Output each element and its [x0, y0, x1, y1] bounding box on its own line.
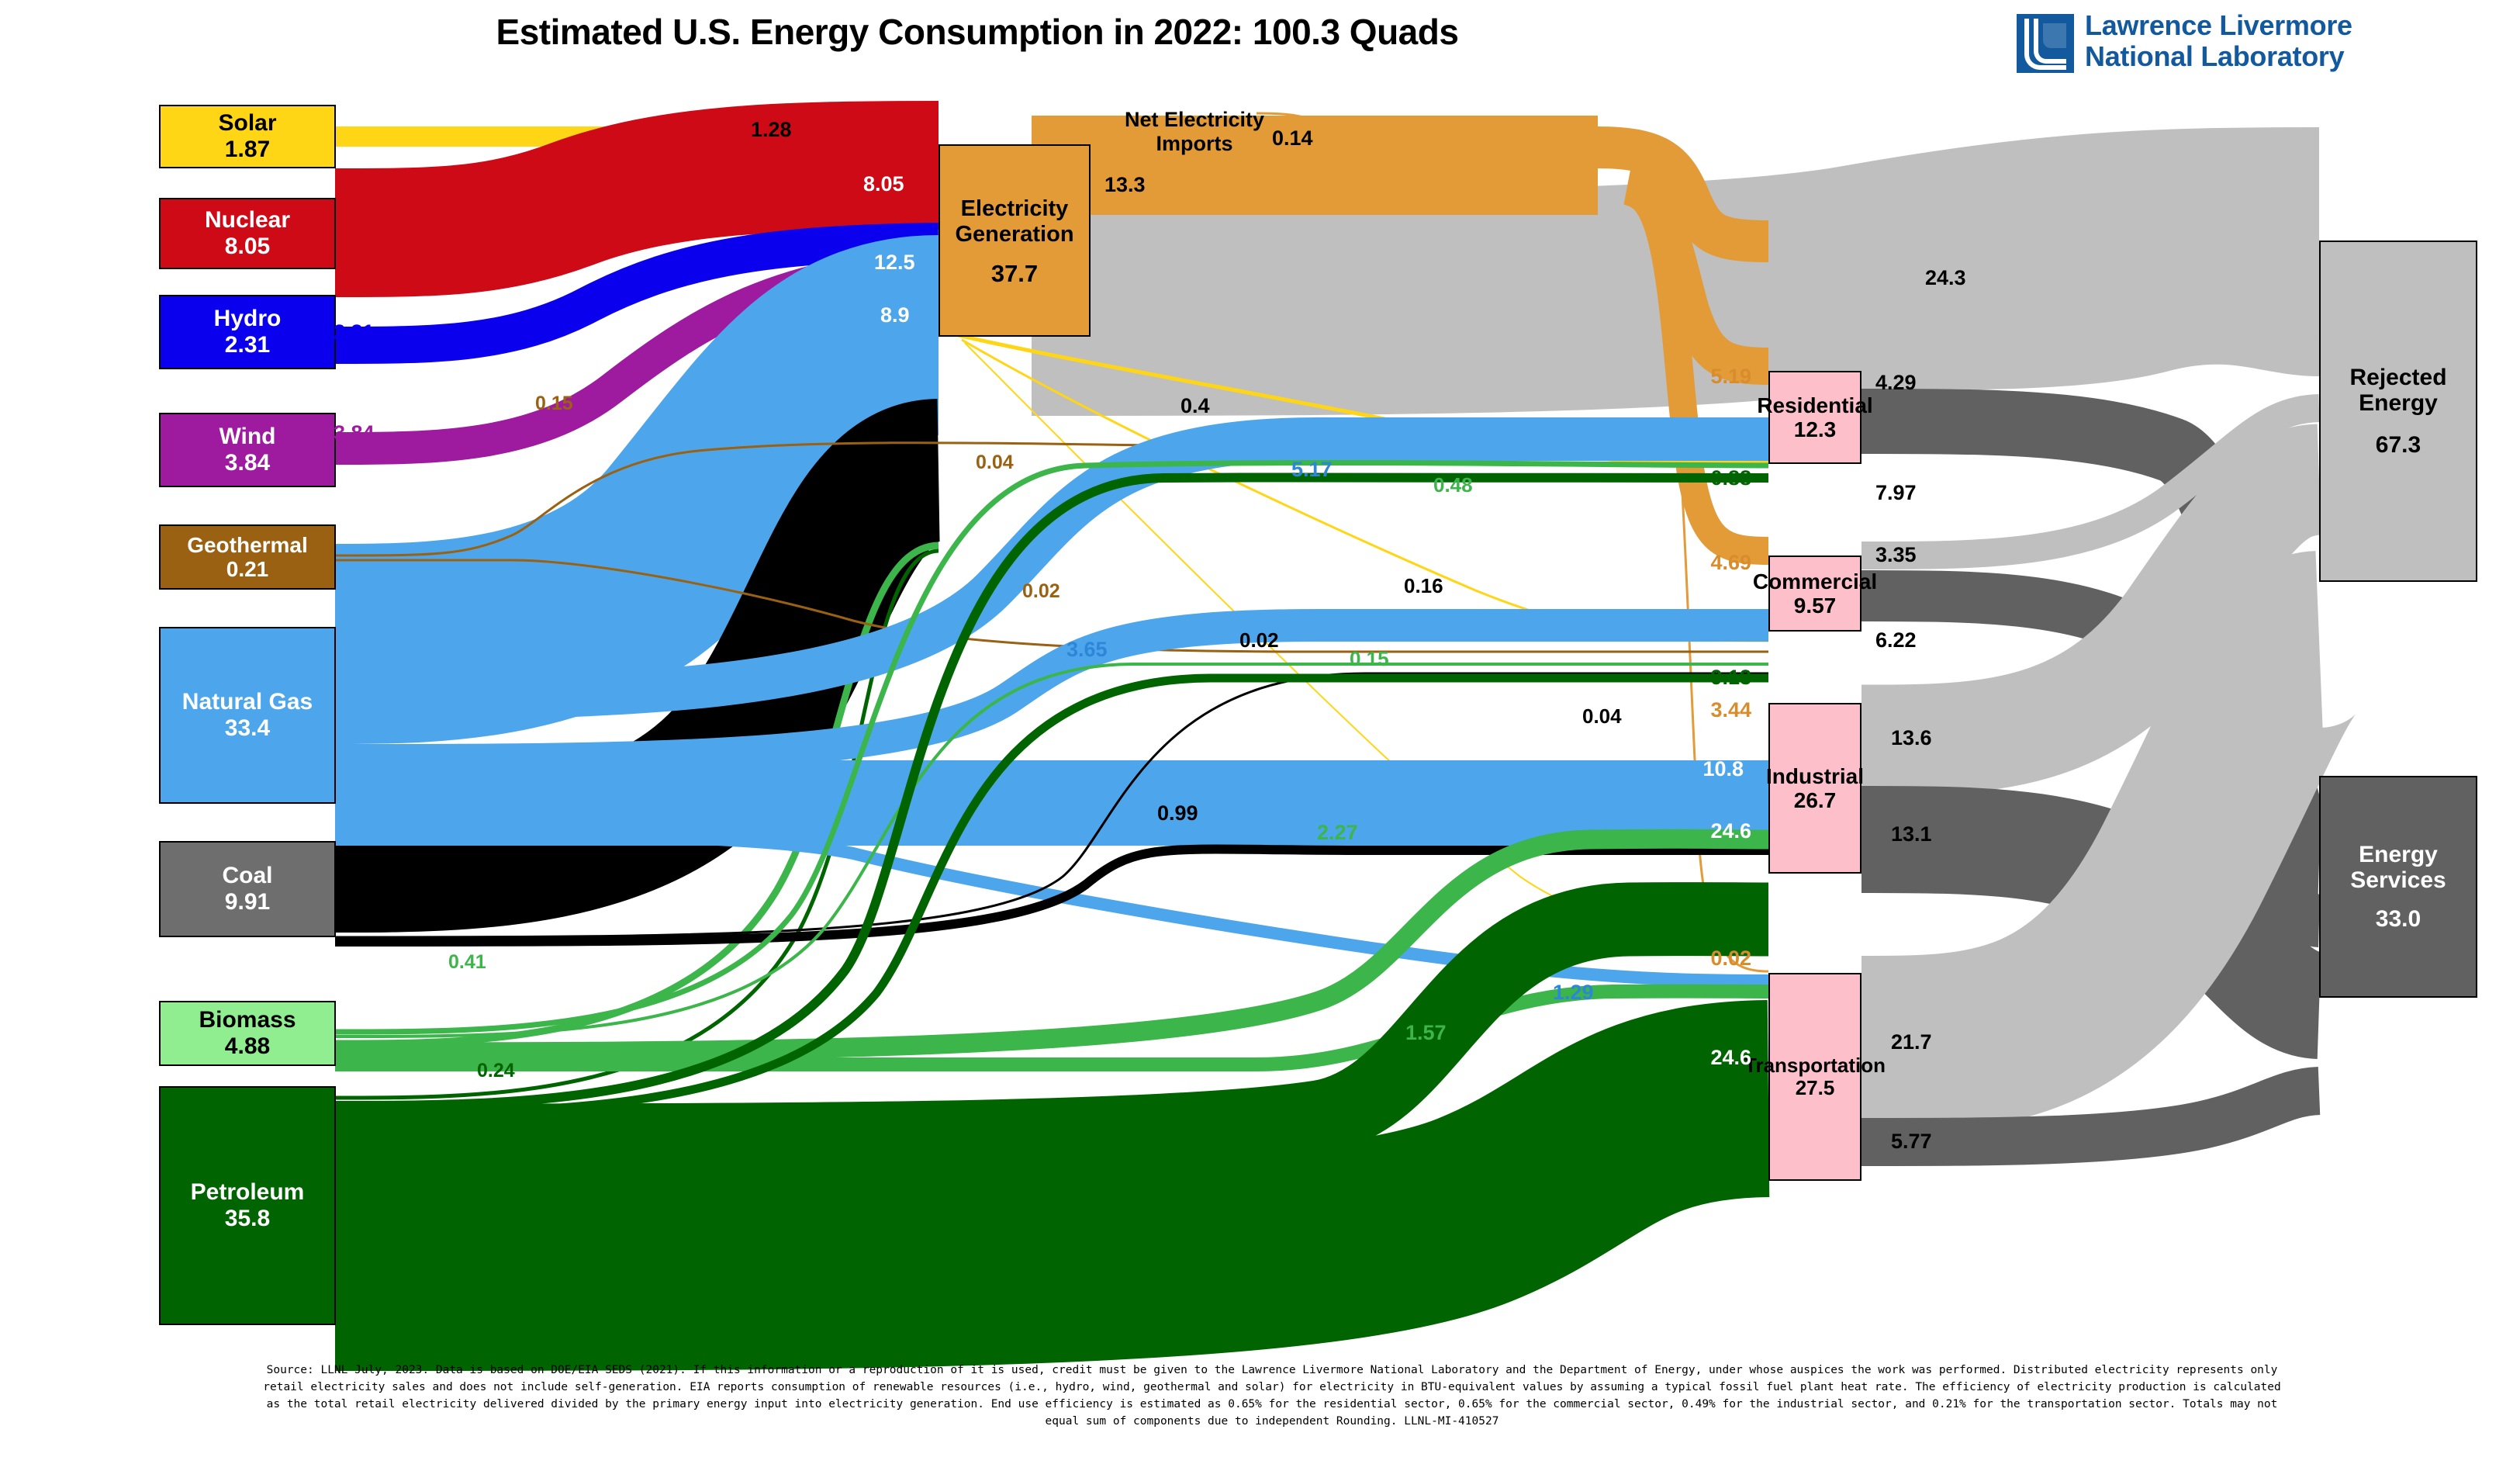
- node-electricity-generation-value: 37.7: [991, 261, 1038, 288]
- net-electricity-imports-label: Net Electricity Imports: [1094, 84, 1295, 156]
- flow-label-transportation-rejected: 21.7: [1891, 1032, 1932, 1053]
- node-wind-value: 3.84: [225, 450, 270, 476]
- flow-label-residential-rejected: 4.29: [1875, 372, 1917, 393]
- flow-label-residential-services: 7.97: [1875, 483, 1917, 504]
- node-coal-label: Coal: [222, 863, 272, 889]
- node-biomass-label: Biomass: [199, 1007, 296, 1033]
- node-residential-value: 12.3: [1794, 417, 1837, 441]
- node-energy-services[interactable]: EnergyServices 33.0: [2319, 776, 2477, 998]
- flow-label-natural-gas-commercial: 3.65: [1066, 639, 1108, 660]
- flow-label-electricity-residential: 5.19: [1710, 366, 1751, 387]
- node-transportation[interactable]: Transportation 27.5: [1768, 973, 1861, 1181]
- node-industrial-label: Industrial: [1766, 764, 1864, 788]
- flow-label-geothermal-commercial: 0.02: [1022, 582, 1060, 601]
- sankey-flow-layer: [0, 0, 2520, 1464]
- node-coal[interactable]: Coal 9.91: [159, 841, 336, 937]
- node-natural-gas-label: Natural Gas: [182, 689, 313, 715]
- node-rejected-energy[interactable]: RejectedEnergy 67.3: [2319, 241, 2477, 582]
- flow-label-solar-commercial: 0.16: [1404, 576, 1443, 596]
- node-wind[interactable]: Wind 3.84: [159, 413, 336, 487]
- node-transportation-value: 27.5: [1796, 1077, 1835, 1099]
- node-nuclear[interactable]: Nuclear 8.05: [159, 198, 336, 269]
- node-residential-label: Residential: [1757, 393, 1872, 417]
- flow-label-coal-electricity: 8.9: [880, 305, 910, 326]
- flow-label-petroleum-electricity: 0.24: [477, 1061, 515, 1081]
- sankey-diagram-canvas: Estimated U.S. Energy Consumption in 202…: [0, 0, 2520, 1464]
- node-transportation-label: Transportation: [1744, 1054, 1886, 1077]
- node-nuclear-label: Nuclear: [205, 207, 290, 234]
- flow-label-commercial-rejected: 3.35: [1875, 545, 1917, 566]
- flow-label-biomass-electricity: 0.41: [448, 953, 486, 972]
- node-geothermal[interactable]: Geothermal 0.21: [159, 524, 336, 590]
- node-energy-services-label: EnergyServices: [2350, 842, 2446, 894]
- node-solar[interactable]: Solar 1.87: [159, 105, 336, 168]
- node-industrial[interactable]: Industrial 26.7: [1768, 703, 1861, 874]
- node-biomass[interactable]: Biomass 4.88: [159, 1001, 336, 1066]
- node-commercial[interactable]: Commercial 9.57: [1768, 555, 1861, 632]
- flow-label-nuclear-electricity: 8.05: [863, 174, 904, 195]
- node-wind-label: Wind: [219, 424, 275, 450]
- node-natural-gas[interactable]: Natural Gas 33.4: [159, 627, 336, 804]
- node-natural-gas-value: 33.4: [225, 715, 270, 742]
- flow-label-petroleum-industrial: 24.6: [1710, 821, 1751, 842]
- node-electricity-generation[interactable]: ElectricityGeneration 37.7: [939, 144, 1091, 337]
- flow-label-solar-residential: 0.4: [1180, 396, 1210, 417]
- flow-label-hydro-electricity: 2.31: [334, 322, 375, 343]
- flow-label-coal-commercial: 0.02: [1239, 630, 1279, 650]
- node-rejected-energy-label: RejectedEnergy: [2349, 365, 2446, 417]
- flow-label-electricity-rejected: 24.3: [1925, 268, 1966, 289]
- flow-label-geothermal-residential: 0.04: [976, 453, 1014, 472]
- flow-label-natural-gas-electricity: 12.5: [874, 252, 915, 273]
- flow-label-coal-industrial: 0.99: [1157, 803, 1198, 824]
- flow-label-petroleum-commercial: 9.13: [1710, 667, 1751, 688]
- node-electricity-generation-label: ElectricityGeneration: [955, 196, 1073, 247]
- flow-label-industrial-services: 13.1: [1891, 824, 1932, 845]
- flow-label-solar-electricity: 1.28: [751, 119, 792, 140]
- flow-label-biomass-commercial: 0.15: [1350, 649, 1389, 669]
- flow-label-net-imports: 0.14: [1272, 128, 1313, 149]
- node-solar-value: 1.87: [225, 137, 270, 163]
- node-energy-services-value: 33.0: [2376, 906, 2421, 933]
- node-hydro-label: Hydro: [214, 306, 282, 332]
- flow-label-biomass-industrial: 2.27: [1317, 822, 1358, 843]
- flow-label-wind-electricity: 3.84: [334, 423, 375, 444]
- node-coal-value: 9.91: [225, 889, 270, 915]
- node-residential[interactable]: Residential 12.3: [1768, 371, 1861, 464]
- flow-label-distributed-electricity: 13.3: [1104, 175, 1146, 196]
- node-hydro[interactable]: Hydro 2.31: [159, 295, 336, 369]
- flow-label-geothermal-electricity: 0.15: [535, 394, 573, 414]
- node-nuclear-value: 8.05: [225, 234, 270, 260]
- flow-label-natural-gas-industrial: 10.8: [1702, 759, 1744, 780]
- node-commercial-label: Commercial: [1753, 569, 1877, 594]
- node-geothermal-label: Geothermal: [187, 533, 308, 557]
- flow-label-natural-gas-residential: 5.17: [1291, 459, 1333, 480]
- flow-label-electricity-transportation: 0.02: [1710, 948, 1751, 969]
- flow-label-solar-industrial: 0.04: [1582, 706, 1622, 726]
- node-commercial-value: 9.57: [1794, 594, 1837, 618]
- node-industrial-value: 26.7: [1794, 788, 1837, 812]
- flow-label-petroleum-transportation-value: 24.6: [1710, 1047, 1751, 1068]
- flow-label-biomass-residential: 0.48: [1433, 475, 1473, 495]
- flow-label-petroleum-residential: 0.88: [1710, 468, 1751, 489]
- node-geothermal-value: 0.21: [226, 557, 269, 581]
- node-solar-label: Solar: [218, 110, 276, 137]
- node-rejected-energy-value: 67.3: [2376, 432, 2421, 459]
- node-petroleum-value: 35.8: [225, 1206, 270, 1232]
- flow-label-transportation-services: 5.77: [1891, 1131, 1932, 1152]
- node-petroleum-label: Petroleum: [191, 1179, 305, 1206]
- footnote-text: Source: LLNL July, 2023. Data is based o…: [256, 1362, 2288, 1430]
- flow-label-natural-gas-transportation: 1.29: [1553, 982, 1594, 1003]
- node-biomass-value: 4.88: [225, 1033, 270, 1060]
- node-petroleum[interactable]: Petroleum 35.8: [159, 1086, 336, 1325]
- flow-label-commercial-services: 6.22: [1875, 630, 1917, 651]
- flow-label-electricity-commercial: 4.69: [1710, 552, 1751, 573]
- flow-label-electricity-industrial: 3.44: [1710, 700, 1751, 721]
- flow-label-biomass-transportation: 1.57: [1405, 1023, 1447, 1043]
- flow-label-industrial-rejected: 13.6: [1891, 728, 1932, 749]
- node-hydro-value: 2.31: [225, 332, 270, 358]
